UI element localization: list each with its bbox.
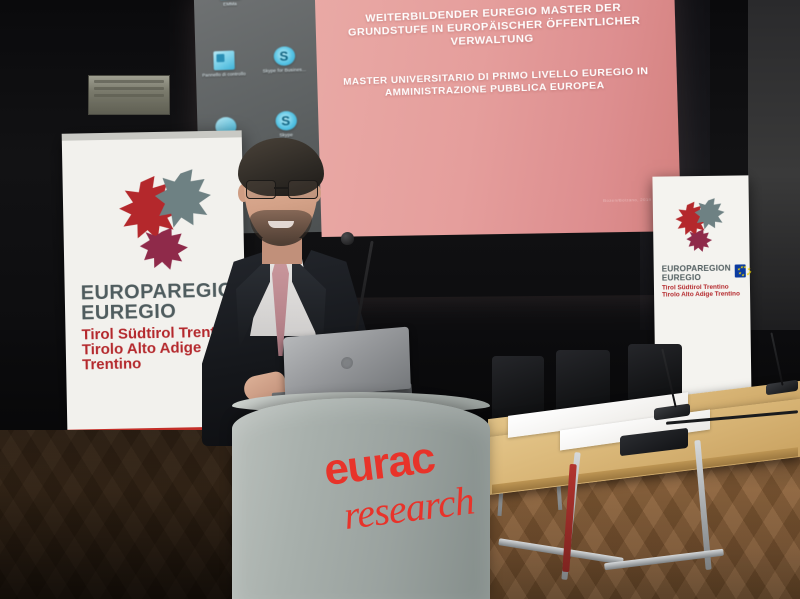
skype-icon <box>275 111 297 131</box>
slide-caption: Bozen/Bolzano, 2019 <box>603 197 651 203</box>
desktop-icon-skype-for-business[interactable]: Skype for Busines... <box>261 46 306 75</box>
slide-title-italian: MASTER UNIVERSITARIO DI PRIMO LIVELLO EU… <box>317 65 677 102</box>
beard <box>250 210 312 246</box>
euregio-eagle-icon <box>669 192 732 255</box>
desktop-icon-pannello-di-controllo[interactable]: Pannello di controllo <box>201 50 246 78</box>
lectern-branding: eurac research <box>221 383 502 599</box>
mouth <box>268 221 294 228</box>
banner-right-wordmark: EUROPAREGION EUREGIO ★ ★ ★ ★ ★ ★ ★ ★ Tir… <box>662 263 746 298</box>
lectern: eurac research <box>232 398 490 599</box>
desktop-icon-skype[interactable]: Skype <box>263 110 308 138</box>
control-panel-icon <box>213 51 235 71</box>
eu-flag-icon: ★ ★ ★ ★ ★ ★ ★ ★ <box>735 264 746 277</box>
conference-photo-scene: EMMa Pannello di controllo Skype for Bus… <box>0 0 800 599</box>
floor-shadow-left <box>0 430 240 599</box>
wall-far-right-panel <box>748 0 800 350</box>
eyeglasses-icon <box>244 180 320 197</box>
skype-icon <box>273 46 295 66</box>
desktop-icon-emma[interactable]: EMMa <box>207 0 252 8</box>
banner-right-line2: EUREGIO <box>662 273 731 283</box>
dell-laptop[interactable] <box>283 326 411 399</box>
banner-right-line4: Tirolo Alto Adige Trentino <box>662 290 746 298</box>
wall-vent-fixture <box>88 75 170 115</box>
slide-title-german: WEITERBILDENDER EUREGIO MASTER DER GRUND… <box>315 0 675 54</box>
banner-right-line1: EUROPAREGION <box>662 264 731 274</box>
gooseneck-microphone-head <box>341 232 354 245</box>
